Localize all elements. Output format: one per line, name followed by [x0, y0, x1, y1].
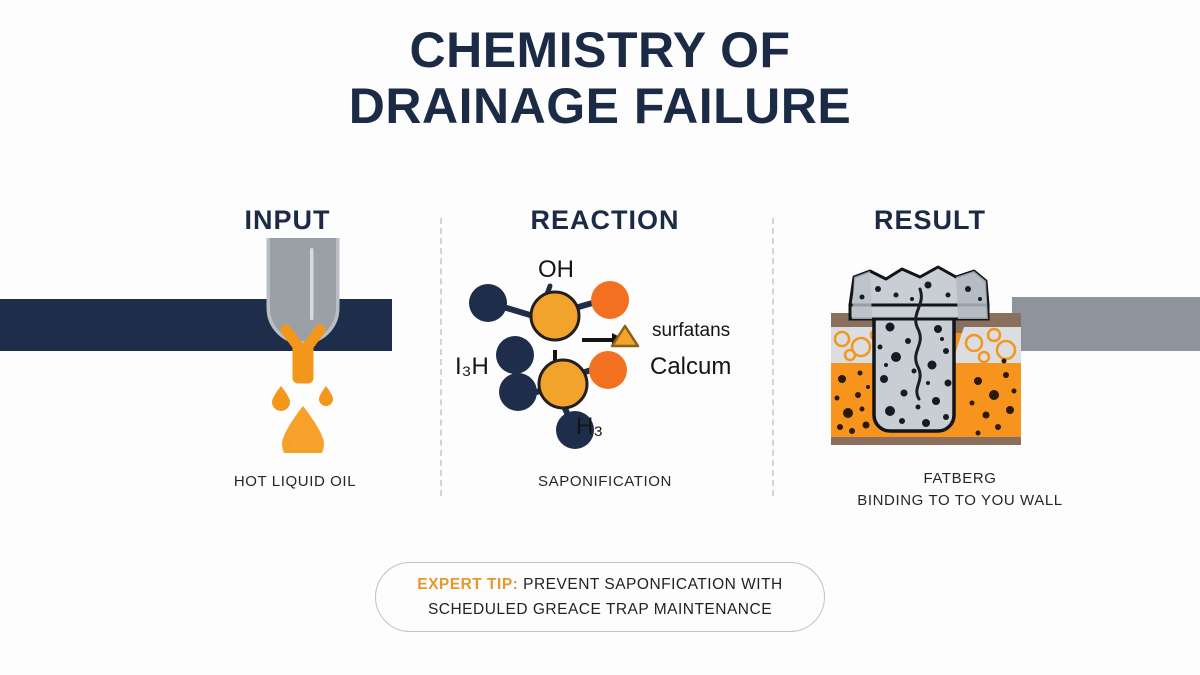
caption-result: FATBERG BINDING TO TO YOU WALL [800, 468, 1120, 512]
title-line-2: DRAINAGE FAILURE [0, 78, 1200, 134]
molecule-label-oh: OH [538, 256, 574, 284]
atom-amber-bottom-center [539, 360, 587, 408]
oil-droplet-small-right [319, 386, 333, 406]
column-header-result: RESULT [830, 205, 1030, 236]
caption-input: HOT LIQUID OIL [165, 471, 425, 493]
caption-result-line-1: FATBERG [800, 468, 1120, 490]
pipe-highlight [310, 248, 314, 320]
expert-tip-label: EXPERT TIP: [417, 576, 518, 593]
fatberg-crosssection-illustration [828, 255, 1024, 450]
column-header-input: INPUT [180, 205, 395, 236]
infographic-canvas: CHEMISTRY OF DRAINAGE FAILURE INPUT REAC… [0, 0, 1200, 675]
atom-navy-mid-left [496, 336, 534, 374]
caption-reaction: SAPONIFICATION [490, 471, 720, 493]
atom-orange-bottom-right [589, 351, 627, 389]
caption-reaction-line-1: SAPONIFICATION [490, 471, 720, 493]
oil-droplet-large [282, 406, 324, 453]
molecule-label-surfactant: surfatans [652, 320, 730, 342]
molecule-label-calcium: Calcum [650, 353, 731, 381]
column-divider-right [772, 218, 774, 496]
pipe-nozzle-fill [270, 238, 336, 341]
title-line-1: CHEMISTRY OF [0, 22, 1200, 78]
expert-tip-line-2: SCHEDULED GREACE TRAP MAINTENANCE [428, 601, 772, 618]
expert-tip-text: EXPERT TIP: PREVENT SAPONFICATION WITH S… [399, 572, 801, 622]
column-header-reaction: REACTION [490, 205, 720, 236]
saponification-molecule-illustration: OH I₃H H₃ surfatans Calcum [460, 258, 760, 463]
page-title: CHEMISTRY OF DRAINAGE FAILURE [0, 22, 1200, 134]
grey-pipe-band [1012, 297, 1200, 351]
expert-tip-line-1: PREVENT SAPONFICATION WITH [518, 576, 782, 593]
oil-droplet-small-left [272, 386, 290, 411]
molecule-label-bottom-group: H₃ [576, 413, 603, 441]
column-divider-left [440, 218, 442, 496]
molecule-label-left-group: I₃H [455, 353, 489, 381]
caption-result-line-2: BINDING TO TO YOU WALL [800, 490, 1120, 512]
caption-input-line-1: HOT LIQUID OIL [165, 471, 425, 493]
atom-amber-top-center [531, 292, 579, 340]
atom-orange-top-right [591, 281, 629, 319]
atom-navy-top-left [469, 284, 507, 322]
expert-tip-pill: EXPERT TIP: PREVENT SAPONFICATION WITH S… [375, 562, 825, 632]
atom-navy-bottom-left [499, 373, 537, 411]
hot-oil-drip-illustration [248, 238, 358, 453]
